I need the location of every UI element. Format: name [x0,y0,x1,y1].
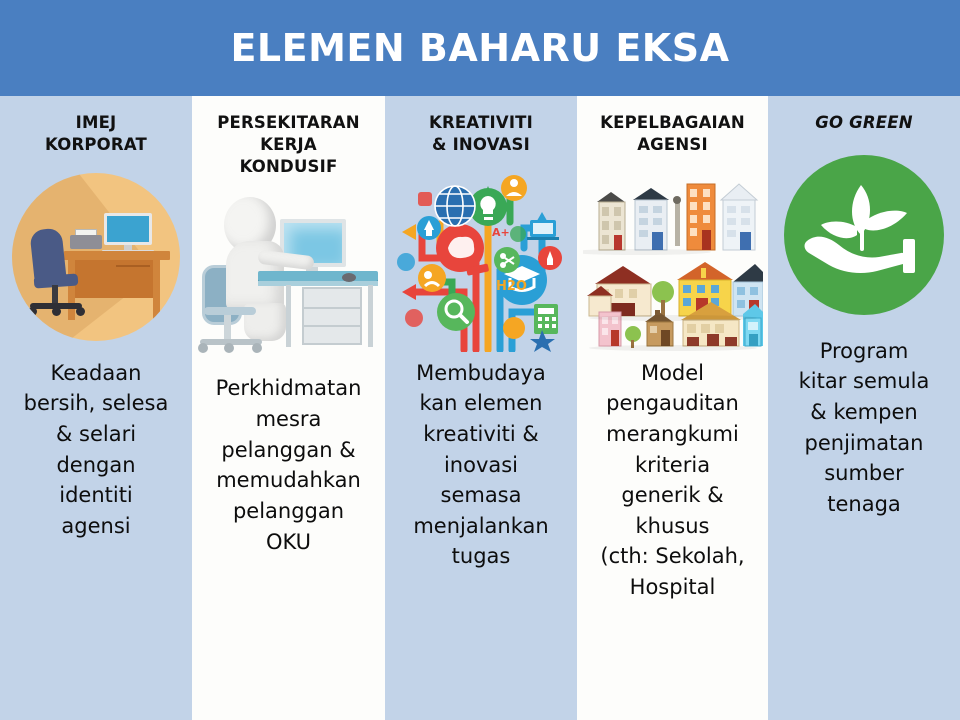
column-body-text: Perkhidmatan mesra pelanggan & memudahka… [192,373,385,557]
column-heading: IMEJ KORPORAT [0,112,192,156]
column-body-text: Model pengauditan merangkumi kriteria ge… [577,358,768,603]
desk-leg-left [286,285,291,347]
buildings-agencies-icon [583,162,763,352]
person-at-computer-desk-icon [196,175,381,370]
desk-drawer [116,265,150,267]
lamp-post [675,202,680,246]
chair-pole [52,285,58,305]
column-heading: PERSEKITARAN KERJA KONDUSIF [192,112,385,177]
hand-plant-svg [799,175,929,295]
office-desk-workstation-icon [12,173,180,341]
column-heading: KREATIVITI & INOVASI [385,112,577,156]
chair-wheel [252,343,262,353]
building-blue-flats [633,188,669,250]
desk-leg-right [368,285,373,347]
chair-wheel [76,307,85,316]
building-white-gable [721,184,757,250]
poster-canvas: ELEMEN BAHARU EKSA IMEJ KORPORAT [0,0,960,720]
desk-top [258,271,378,281]
svg-text:H2O: H2O [496,279,527,294]
column-illustration [768,140,960,330]
column-heading: GO GREEN [768,112,960,134]
chair-wheel [52,307,61,316]
mouse-icon [342,273,356,282]
cabinet-line [304,307,360,309]
innovation-network-svg: H2O A+ [392,162,570,352]
cabinet-line [304,325,360,327]
column-illustration [577,162,768,352]
columns-container: IMEJ KORPORAT [0,96,960,720]
creativity-innovation-network-icon: H2O A+ [392,162,570,352]
desk-top [64,251,170,260]
building-red-roof-wide [587,266,651,316]
column-body-text: Keadaan bersih, selesa & selari dengan i… [0,358,192,542]
page-title: ELEMEN BAHARU EKSA [230,26,729,70]
tree-icon [625,326,641,342]
column-kreativiti-inovasi: KREATIVITI & INOVASI [385,96,577,720]
desk-leg-left [68,260,75,320]
building-tall-beige [597,192,625,250]
column-body-text: Membudaya kan elemen kreativiti & inovas… [385,358,577,573]
desk-cabinet [302,287,362,345]
printer-icon [70,235,102,249]
column-go-green: GO GREEN Program kitar semula & kemp [768,96,960,720]
hand-holding-plant-icon [784,155,944,315]
tree-icon [652,281,674,303]
column-illustration: H2O A+ [385,162,577,352]
desk-edge [258,281,378,286]
column-imej-korporat: IMEJ KORPORAT [0,96,192,720]
chair-wheel [28,307,37,316]
monitor-stand [124,245,132,250]
column-body-text: Program kitar semula & kempen penjimatan… [768,336,960,520]
building-orange-tower [687,184,715,250]
buildings-svg [583,162,763,352]
chair-arm [204,307,256,315]
column-persekitaran-kerja-kondusif: PERSEKITARAN KERJA KONDUSIF [192,96,385,720]
column-illustration [192,177,385,367]
header-banner: ELEMEN BAHARU EKSA [0,0,960,96]
chair-wheel [224,343,234,353]
svg-text:A+: A+ [492,226,510,239]
column-illustration [0,162,192,352]
monitor-icon [104,213,152,245]
column-heading: KEPELBAGAIAN AGENSI [577,112,768,156]
desk-leg-right [153,260,160,320]
chair-wheel [198,343,208,353]
column-kepelbagaian-agensi: KEPELBAGAIAN AGENSI [577,96,768,720]
